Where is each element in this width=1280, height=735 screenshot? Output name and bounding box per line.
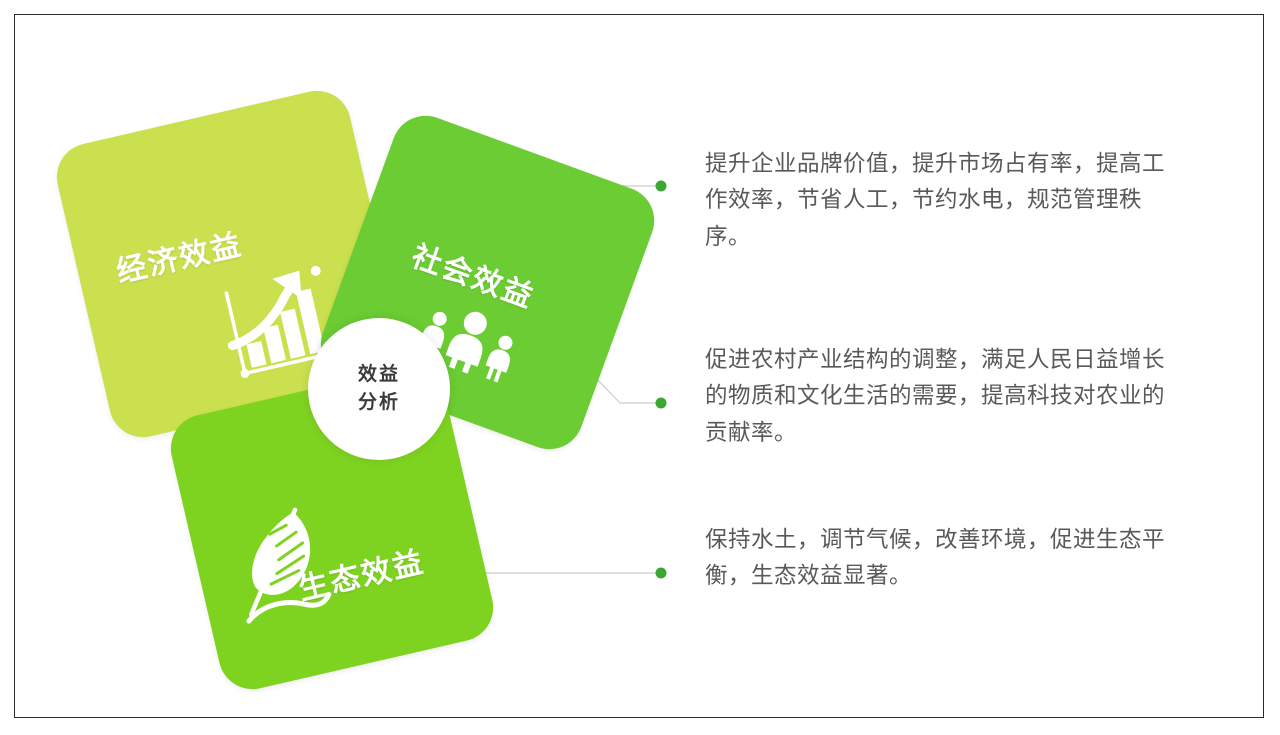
description-ecological: 保持水土，调节气候，改善环境，促进生态平衡，生态效益显著。 <box>705 522 1185 595</box>
description-social: 促进农村产业结构的调整，满足人民日益增长的物质和文化生活的需要，提高科技对农业的… <box>705 342 1185 451</box>
hub-label-line2: 分析 <box>358 389 400 417</box>
slide-canvas: 经济效益 社会效益 <box>0 0 1280 735</box>
description-economic: 提升企业品牌价值，提升市场占有率，提高工作效率，节省人工，节约水电，规范管理秩序… <box>705 146 1185 255</box>
card-economic-label: 经济效益 <box>111 219 246 291</box>
hub-label-line1: 效益 <box>358 361 400 389</box>
card-social-label: 社会效益 <box>406 231 541 316</box>
benefit-card-cluster: 经济效益 社会效益 <box>60 100 680 660</box>
leaf-icon <box>222 498 346 634</box>
hub-circle: 效益 分析 <box>308 318 450 460</box>
